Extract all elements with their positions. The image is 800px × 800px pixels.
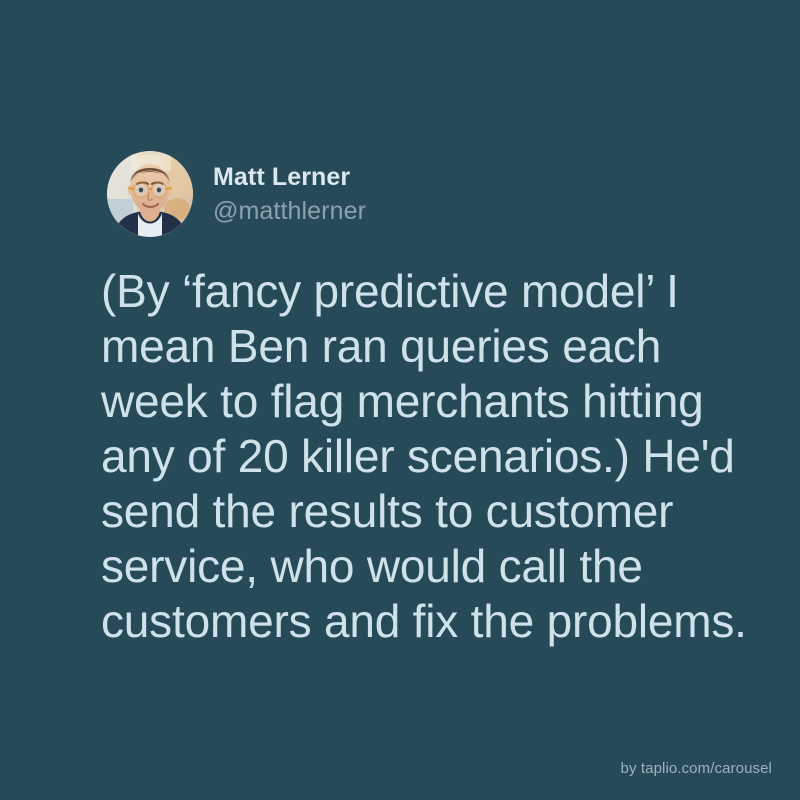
author-text: Matt Lerner @matthlerner: [213, 165, 366, 224]
quote-line: (By ‘fancy predictive model’ I: [101, 264, 721, 319]
author-handle: @matthlerner: [213, 199, 366, 224]
quote-line: any of 20 killer scenarios.) He'd: [101, 429, 721, 484]
attribution-footer: by taplio.com/carousel: [621, 760, 772, 777]
quote-line: customers and fix the problems.: [101, 594, 721, 649]
quote-card: Matt Lerner @matthlerner (By ‘fancy pred…: [0, 0, 800, 800]
avatar: [107, 151, 193, 237]
author-name: Matt Lerner: [213, 165, 366, 190]
quote-line: mean Ben ran queries each: [101, 319, 721, 374]
quote-line: service, who would call the: [101, 539, 721, 594]
quote-line: week to flag merchants hitting: [101, 374, 721, 429]
author-block: Matt Lerner @matthlerner: [107, 151, 366, 237]
quote-text: (By ‘fancy predictive model’ I mean Ben …: [101, 264, 721, 649]
quote-line: send the results to customer: [101, 484, 721, 539]
